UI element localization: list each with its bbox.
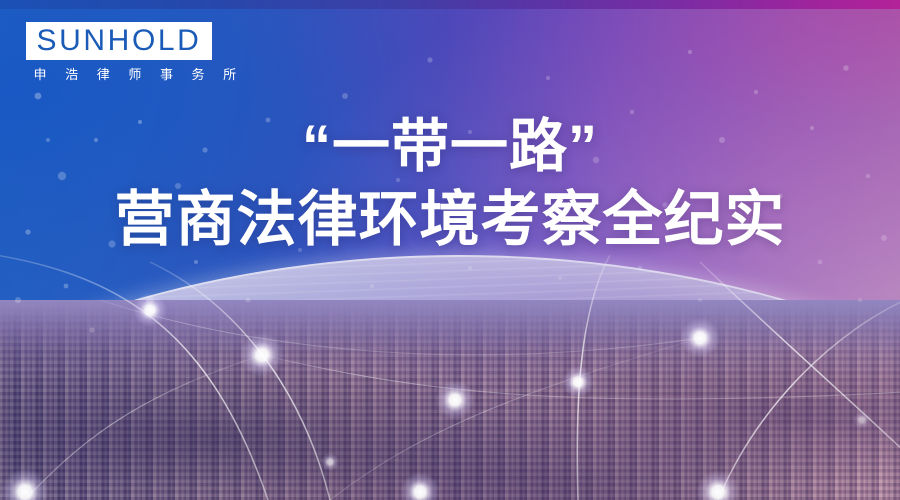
title-line-1: “一带一路” — [0, 112, 900, 182]
cityscape-haze-overlay — [0, 300, 900, 500]
logo-wordmark-text: SUNHOLD — [33, 25, 205, 56]
banner-root: SUNHOLD 申 浩 律 师 事 务 所 “一带一路” 营商法律环境考察全纪实 — [0, 0, 900, 500]
logo-subtitle-text: 申 浩 律 师 事 务 所 — [26, 67, 212, 82]
logo-wordmark-box: SUNHOLD — [26, 22, 212, 60]
title-line-2: 营商法律环境考察全纪实 — [0, 182, 900, 258]
top-edge-band — [0, 0, 900, 9]
logo[interactable]: SUNHOLD 申 浩 律 师 事 务 所 — [26, 22, 212, 82]
banner-title: “一带一路” 营商法律环境考察全纪实 — [0, 112, 900, 258]
